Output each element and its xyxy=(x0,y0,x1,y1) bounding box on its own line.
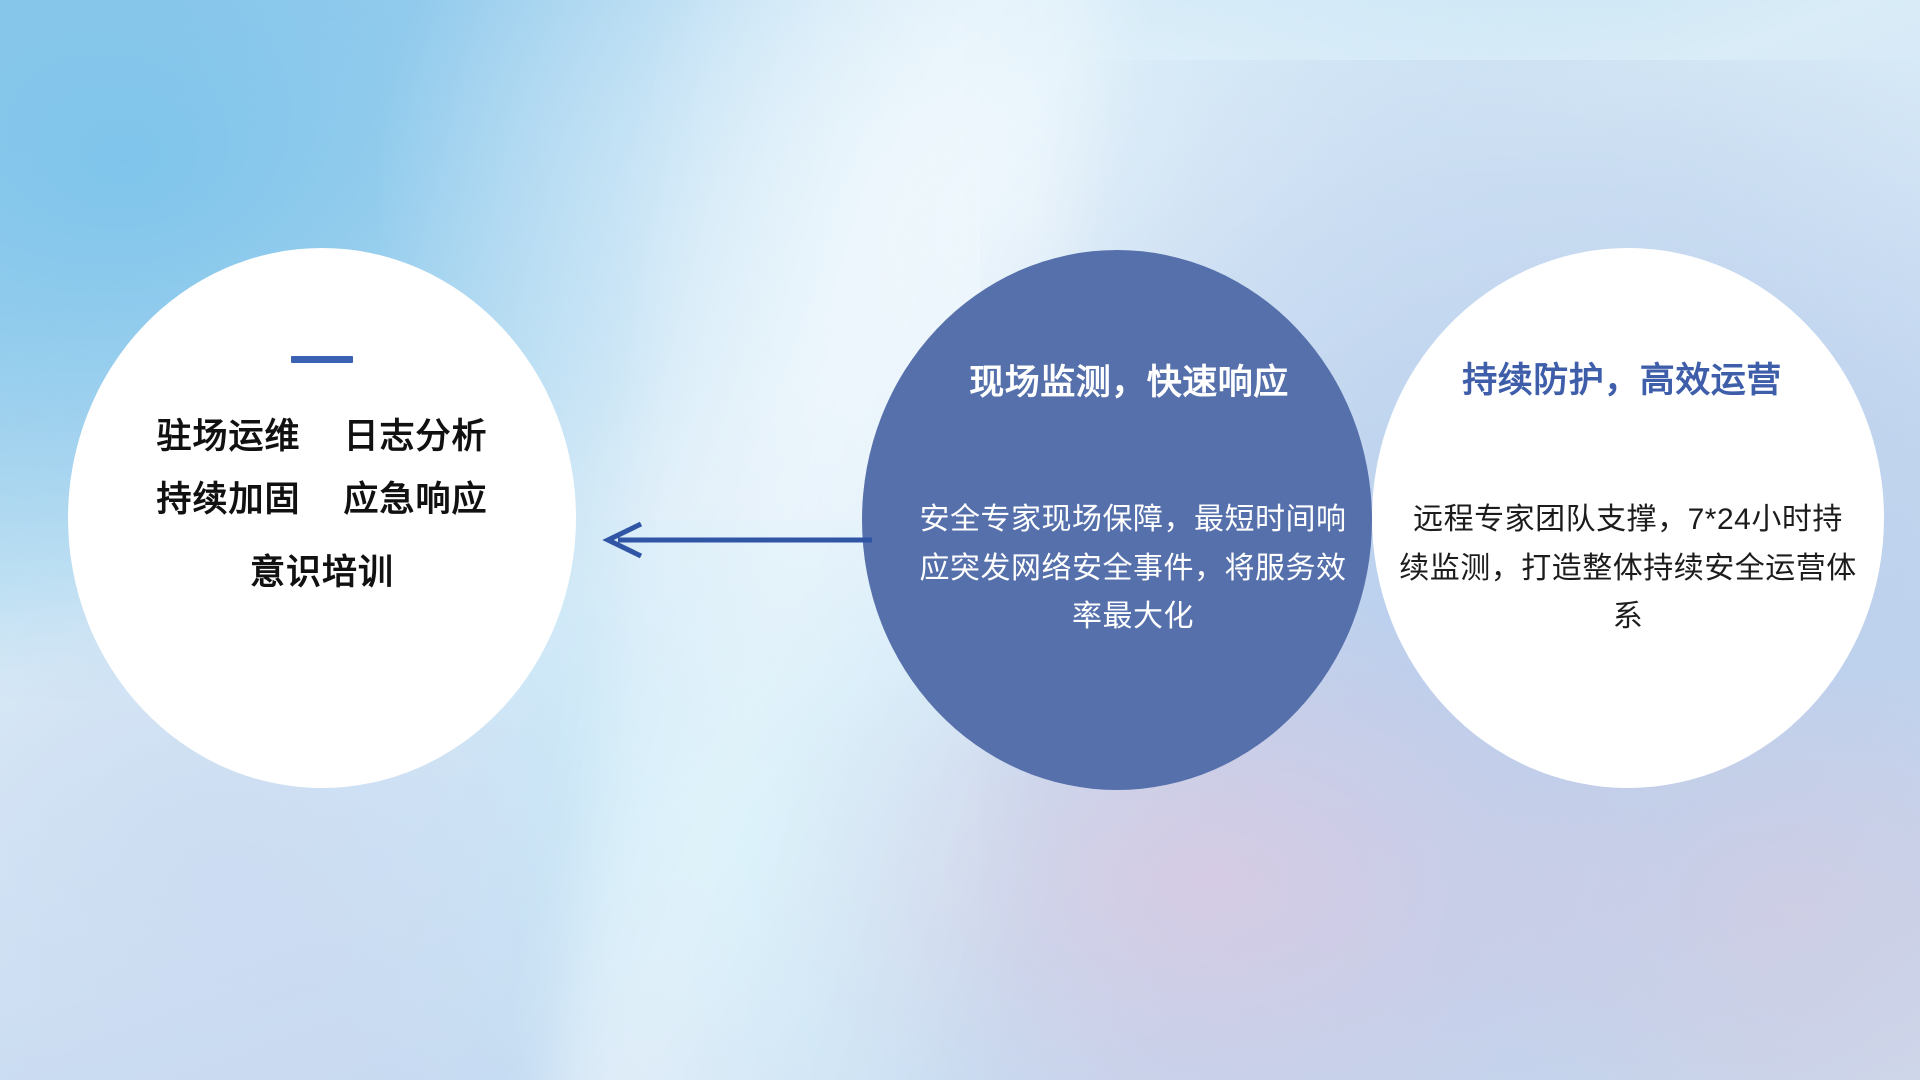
continuous-protection-content: 持续防护，高效运营 远程专家团队支撑，7*24小时持续监测，打造整体持续安全运营… xyxy=(1372,248,1884,788)
capability-line-2: 持续加固 应急响应 xyxy=(108,482,536,519)
onsite-monitoring-circle[interactable]: 现场监测，快速响应 安全专家现场保障，最短时间响应突发网络安全事件，将服务效率最… xyxy=(862,250,1372,790)
onsite-monitoring-content: 现场监测，快速响应 安全专家现场保障，最短时间响应突发网络安全事件，将服务效率最… xyxy=(862,250,1372,790)
onsite-monitoring-body: 安全专家现场保障，最短时间响应突发网络安全事件，将服务效率最大化 xyxy=(912,496,1354,642)
continuous-protection-circle[interactable]: 持续防护，高效运营 远程专家团队支撑，7*24小时持续监测，打造整体持续安全运营… xyxy=(1372,248,1884,788)
horizontal-dash-icon xyxy=(291,356,353,363)
capability-circle-left[interactable]: 驻场运维 日志分析 持续加固 应急响应 意识培训 xyxy=(68,248,576,788)
capability-list: 驻场运维 日志分析 持续加固 应急响应 意识培训 xyxy=(68,356,576,591)
capability-line-1: 驻场运维 日志分析 xyxy=(108,419,536,456)
continuous-protection-body: 远程专家团队支撑，7*24小时持续监测，打造整体持续安全运营体系 xyxy=(1398,496,1858,642)
onsite-monitoring-title: 现场监测，快速响应 xyxy=(874,354,1384,405)
continuous-protection-title: 持续防护，高效运营 xyxy=(1366,352,1878,403)
capability-line-3: 意识培训 xyxy=(108,555,536,592)
slide-canvas: 驻场运维 日志分析 持续加固 应急响应 意识培训 现场监测，快速响应 安全专家现… xyxy=(0,0,1920,1080)
